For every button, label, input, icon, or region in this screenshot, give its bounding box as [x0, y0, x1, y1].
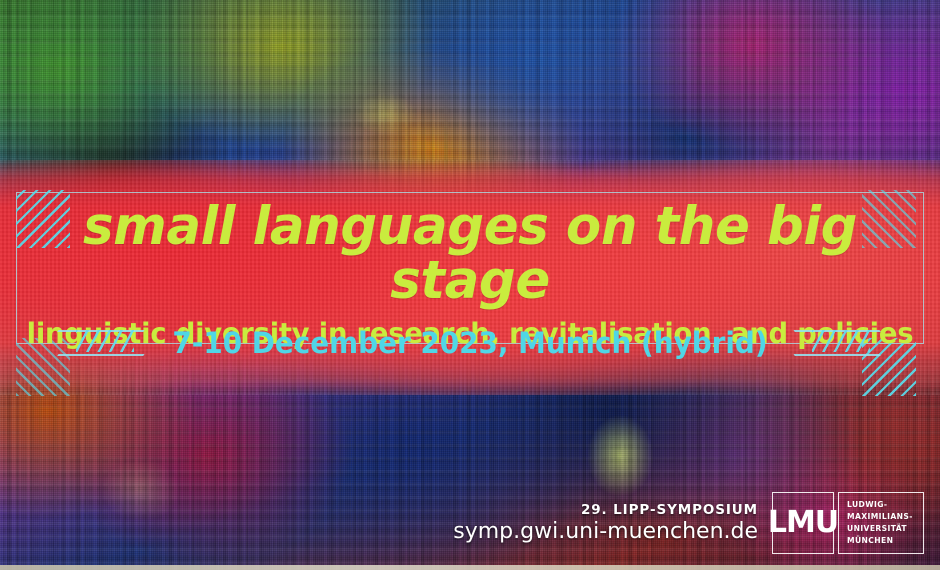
symposium-label: 29. LIPP-SYMPOSIUM [453, 502, 758, 518]
date-location-text: 7-10 December 2023, Munich (hybrid) [172, 326, 767, 360]
date-location-row: 7-10 December 2023, Munich (hybrid) [0, 326, 940, 360]
lmu-wordmark: LMU [772, 492, 834, 554]
lmu-name-line-4: MÜNCHEN [847, 535, 913, 547]
date-ornament-right-icon [794, 326, 882, 360]
footer-text-block: 29. LIPP-SYMPOSIUM symp.gwi.uni-muenchen… [453, 502, 758, 544]
conference-poster: small languages on the big stage linguis… [0, 0, 940, 570]
lmu-logo[interactable]: LMU LUDWIG- MAXIMILIANS- UNIVERSITÄT MÜN… [772, 492, 924, 554]
lmu-name-line-2: MAXIMILIANS- [847, 511, 913, 523]
footer: 29. LIPP-SYMPOSIUM symp.gwi.uni-muenchen… [453, 492, 924, 554]
website-url[interactable]: symp.gwi.uni-muenchen.de [453, 519, 758, 544]
bottom-edge-strip [0, 565, 940, 570]
date-ornament-left-icon [58, 326, 146, 360]
lmu-university-name: LUDWIG- MAXIMILIANS- UNIVERSITÄT MÜNCHEN [838, 492, 924, 554]
lmu-name-line-1: LUDWIG- [847, 499, 913, 511]
poster-title: small languages on the big stage [14, 200, 926, 308]
lmu-name-line-3: UNIVERSITÄT [847, 523, 913, 535]
